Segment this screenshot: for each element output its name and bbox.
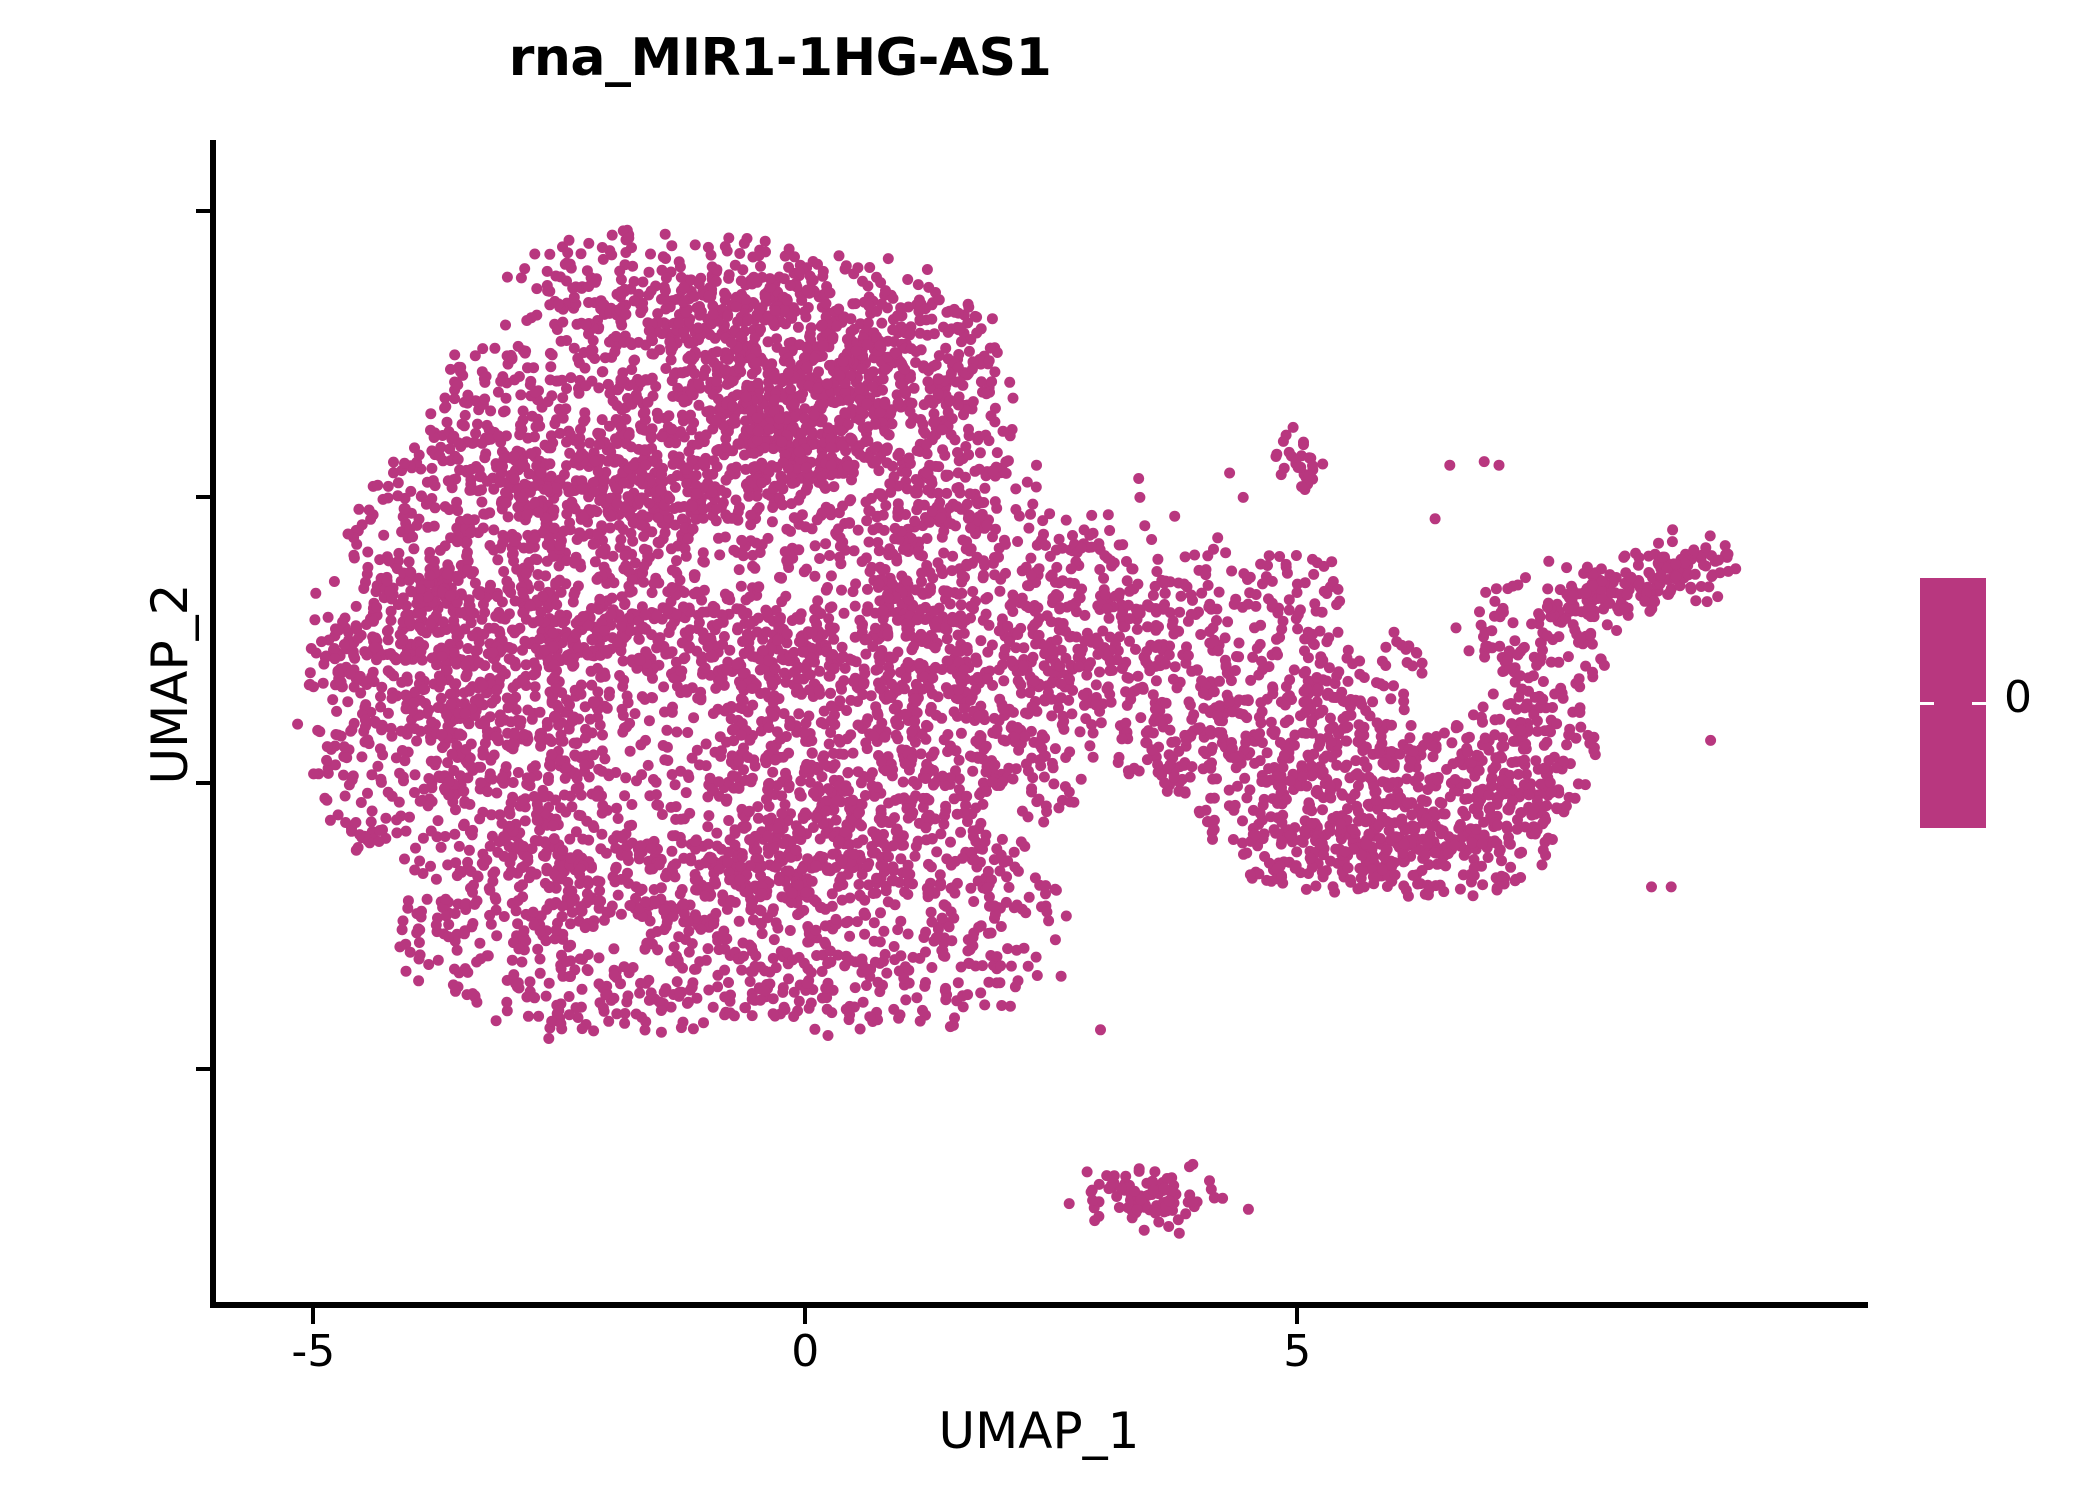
scatter-points-layer (210, 140, 1868, 1305)
y-tick-mark (196, 209, 210, 213)
page-title: rna_MIR1-1HG-AS1 (0, 28, 1560, 88)
x-tick-label: 0 (705, 1330, 905, 1374)
colorbar-tick-left (1920, 702, 1934, 705)
x-tick-mark (803, 1308, 807, 1324)
x-axis-spine (210, 1302, 1868, 1308)
y-axis-label: UMAP_2 (141, 404, 199, 964)
umap-feature-plot: rna_MIR1-1HG-AS1 04812 -505 UMAP_2 UMAP_… (0, 0, 2100, 1500)
x-tick-mark (311, 1308, 315, 1324)
colorbar-tick-right (1972, 702, 1986, 705)
colorbar: 0 (1920, 578, 2080, 898)
x-tick-label: -5 (213, 1330, 413, 1374)
x-tick-mark (1295, 1308, 1299, 1324)
y-tick-mark (196, 1067, 210, 1071)
x-tick-label: 5 (1197, 1330, 1397, 1374)
y-axis-spine (210, 140, 216, 1308)
colorbar-tick-label: 0 (2004, 676, 2032, 720)
x-axis-label: UMAP_1 (210, 1402, 1868, 1460)
plot-axes: 04812 -505 UMAP_2 UMAP_1 (210, 140, 1868, 1305)
